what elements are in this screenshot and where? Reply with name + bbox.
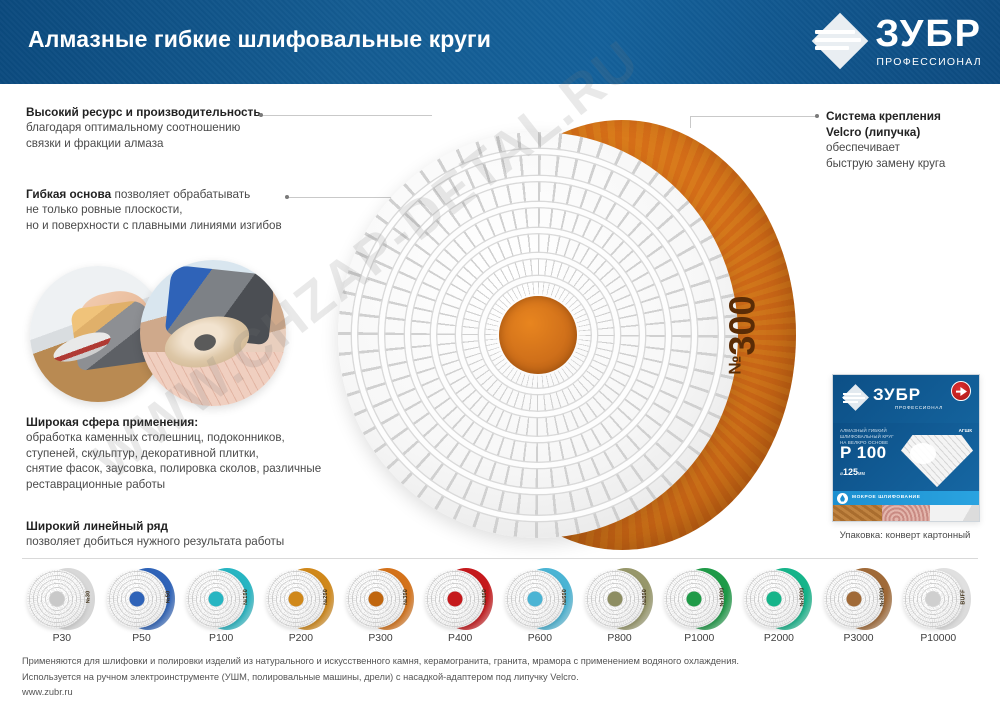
disc-hub (687, 592, 702, 607)
disc-face (824, 570, 884, 628)
disc-grit-number: BUFF (961, 589, 967, 604)
feature-application: Широкая сфера применения: обработка каме… (26, 414, 321, 492)
package-diameter-unit: мм (858, 471, 865, 477)
disc-face (266, 570, 326, 628)
disc-label: P400 (448, 633, 472, 644)
disc-item-p800[interactable]: №800P800 (580, 566, 660, 644)
disc-item-p1000[interactable]: №1000P1000 (659, 566, 739, 644)
package-diameter: ⌀125мм (840, 467, 865, 477)
feature-velcro-title-1: Система крепления (826, 108, 945, 124)
footer-notes: Применяются для шлифовки и полировки изд… (22, 655, 922, 697)
disc-face (186, 570, 246, 628)
feature-application-line-1: обработка каменных столешниц, подоконник… (26, 430, 321, 446)
disc-item-p300[interactable]: №300P300 (341, 566, 421, 644)
disc-hub (368, 592, 383, 607)
disc-grit-number: №800 (642, 589, 648, 605)
disc-hub (129, 592, 144, 607)
package-brand-subtitle: ПРОФЕССИОНАЛ (895, 405, 943, 410)
package-body: АЛМАЗНЫЙ ГИБКИЙ ШЛИФОВАЛЬНЫЙ КРУГ НА ВЕЛ… (833, 423, 979, 491)
package-brand-name: ЗУБР (873, 385, 921, 405)
disc-grit-number: №300 (403, 589, 409, 605)
feature-flexible-base-line-2: но и поверхности с плавными линиями изги… (26, 218, 282, 234)
feature-flexible-base-bold: Гибкая основа (26, 187, 111, 201)
disc-grit-number: №2000 (799, 587, 805, 606)
disc-item-p600[interactable]: №600P600 (500, 566, 580, 644)
brand-name: ЗУБР (875, 16, 982, 52)
hero-grit-prefix: № (725, 356, 744, 375)
page-title: Алмазные гибкие шлифовальные круги (28, 26, 491, 53)
disc-face (505, 570, 565, 628)
disc-face (903, 570, 963, 628)
package-image: ЗУБР ПРОФЕССИОНАЛ АЛМАЗНЫЙ ГИБКИЙ ШЛИФОВ… (832, 374, 980, 522)
disc-hub (288, 592, 303, 607)
disc-item-p50[interactable]: №50P50 (102, 566, 182, 644)
diamond-illustration-icon (901, 435, 973, 487)
disc-item-p100[interactable]: №100P100 (181, 566, 261, 644)
package-article-code: АГШК (959, 428, 972, 433)
disc-hub (209, 592, 224, 607)
material-photo-marble (930, 505, 979, 522)
package-wet-strip: МОКРОЕ ШЛИФОВАНИЕ (833, 491, 979, 505)
disc-label: P300 (368, 633, 392, 644)
package-zubr-diamond-icon (842, 385, 868, 411)
disc-label: P600 (528, 633, 552, 644)
disc-thumbnail: №2000 (744, 566, 814, 628)
disc-face (107, 570, 167, 628)
footer-line-2: Используется на ручном электроинструмент… (22, 671, 922, 685)
disc-label: P2000 (764, 633, 794, 644)
page-header: Алмазные гибкие шлифовальные круги ЗУБР … (0, 0, 1000, 84)
feature-application-line-3: снятие фасок, заусовка, полировка сколов… (26, 461, 321, 477)
disc-thumbnail: №400 (425, 566, 495, 628)
disc-grit-number: №30 (86, 591, 92, 604)
hero-grit-number: 300 (721, 295, 762, 355)
disc-face (664, 570, 724, 628)
disc-grit-number: №50 (165, 591, 171, 604)
feature-velcro-title-2: Velcro (липучка) (826, 124, 945, 140)
brand-subtitle: ПРОФЕССИОНАЛ (876, 56, 982, 68)
feature-application-line-4: реставрационные работы (26, 477, 321, 493)
hero-center-hole (499, 296, 577, 374)
disc-face (425, 570, 485, 628)
feature-lineup: Широкий линейный ряд позволяет добиться … (26, 518, 284, 550)
disc-hub (766, 592, 781, 607)
disc-item-p200[interactable]: №200P200 (261, 566, 341, 644)
disc-label: P50 (132, 633, 151, 644)
disc-item-p400[interactable]: №400P400 (420, 566, 500, 644)
disc-thumbnail: №200 (266, 566, 336, 628)
material-photo-granite (882, 505, 931, 522)
feature-application-title: Широкая сфера применения: (26, 414, 321, 430)
disc-thumbnail: №50 (107, 566, 177, 628)
disc-grit-number: №400 (482, 589, 488, 605)
disc-grit-number: №1000 (720, 587, 726, 606)
feature-velcro-line-2: быструю замену круга (826, 156, 945, 172)
feature-lineup-line-1: позволяет добиться нужного результата ра… (26, 534, 284, 550)
disc-item-p2000[interactable]: №2000P2000 (739, 566, 819, 644)
disc-hub (846, 592, 861, 607)
package-diameter-value: 125 (843, 467, 858, 477)
disc-hub (926, 592, 941, 607)
footer-line-1: Применяются для шлифовки и полировки изд… (22, 655, 922, 669)
disc-thumbnail: №3000 (824, 566, 894, 628)
disc-grit-number: №3000 (879, 587, 885, 606)
disc-face (744, 570, 804, 628)
photo-angle-grinder-tile (140, 260, 286, 406)
disc-label: P1000 (684, 633, 714, 644)
disc-thumbnail: №800 (585, 566, 655, 628)
disc-thumbnail: №30 (27, 566, 97, 628)
disc-grit-number: №100 (243, 589, 249, 605)
feature-high-resource: Высокий ресурс и производительность благ… (26, 104, 261, 151)
disc-thumbnail: №600 (505, 566, 575, 628)
connector-dot-velcro (815, 114, 819, 118)
disc-label: P100 (209, 633, 233, 644)
hero-grit-label: №300 (721, 295, 763, 374)
material-photo-stone (833, 505, 882, 522)
hero-diamond-pad (338, 132, 738, 538)
disc-label: P10000 (920, 633, 956, 644)
package-material-photos (833, 505, 979, 522)
feature-flexible-base-rest: позволяет обрабатывать (111, 187, 250, 201)
disc-item-p30[interactable]: №30P30 (22, 566, 102, 644)
disc-hub (527, 592, 542, 607)
connector-dot-flexible-base (285, 195, 289, 199)
disc-item-p3000[interactable]: №3000P3000 (819, 566, 899, 644)
hero-product-image: №300 (338, 112, 798, 560)
feature-flexible-base: Гибкая основа позволяет обрабатывать не … (26, 186, 282, 233)
quality-seal-icon (951, 381, 971, 401)
disc-hub (607, 592, 622, 607)
water-drop-icon (837, 493, 848, 504)
feature-high-resource-title: Высокий ресурс и производительность (26, 104, 261, 120)
disc-thumbnail: №300 (346, 566, 416, 628)
package-header-band: ЗУБР ПРОФЕССИОНАЛ (833, 375, 979, 423)
brand-logo: ЗУБР ПРОФЕССИОНАЛ (813, 14, 982, 70)
disc-label: P30 (53, 633, 72, 644)
feature-velcro-line-1: обеспечивает (826, 140, 945, 156)
disc-label: P800 (607, 633, 631, 644)
feature-lineup-title: Широкий линейный ряд (26, 518, 284, 534)
footer-website: www.zubr.ru (22, 687, 922, 697)
package-caption: Упаковка: конверт картонный (815, 530, 995, 541)
disc-grit-number: №600 (562, 589, 568, 605)
disc-label: P3000 (844, 633, 874, 644)
disc-face (346, 570, 406, 628)
infographic-page: Алмазные гибкие шлифовальные круги ЗУБР … (0, 0, 1000, 707)
feature-application-line-2: ступеней, скульптур, декоративной плитки… (26, 446, 321, 462)
disc-thumbnail: BUFF (903, 566, 973, 628)
zubr-diamond-icon (813, 16, 867, 68)
disc-item-p10000[interactable]: BUFFP10000 (898, 566, 978, 644)
package-grit: P 100 (840, 443, 887, 463)
feature-velcro: Система крепления Velcro (липучка) обесп… (826, 108, 945, 171)
disc-label: P200 (289, 633, 313, 644)
disc-hub (448, 592, 463, 607)
disc-face (27, 570, 87, 628)
disc-grit-number: №200 (323, 589, 329, 605)
feature-flexible-base-line-1: не только ровные плоскости, (26, 202, 282, 218)
disc-thumbnail: №100 (186, 566, 256, 628)
feature-high-resource-line-2: связки и фракции алмаза (26, 136, 261, 152)
lineup-divider (22, 558, 978, 559)
package-wet-label: МОКРОЕ ШЛИФОВАНИЕ (852, 495, 921, 500)
connector-dot-high-resource (259, 113, 263, 117)
feature-high-resource-line-1: благодаря оптимальному соотношению (26, 120, 261, 136)
disc-face (585, 570, 645, 628)
disc-lineup-row: №30P30№50P50№100P100№200P200№300P300№400… (22, 566, 978, 644)
disc-hub (49, 592, 64, 607)
application-photos (22, 258, 312, 408)
feature-flexible-base-title: Гибкая основа позволяет обрабатывать (26, 186, 282, 202)
disc-thumbnail: №1000 (664, 566, 734, 628)
